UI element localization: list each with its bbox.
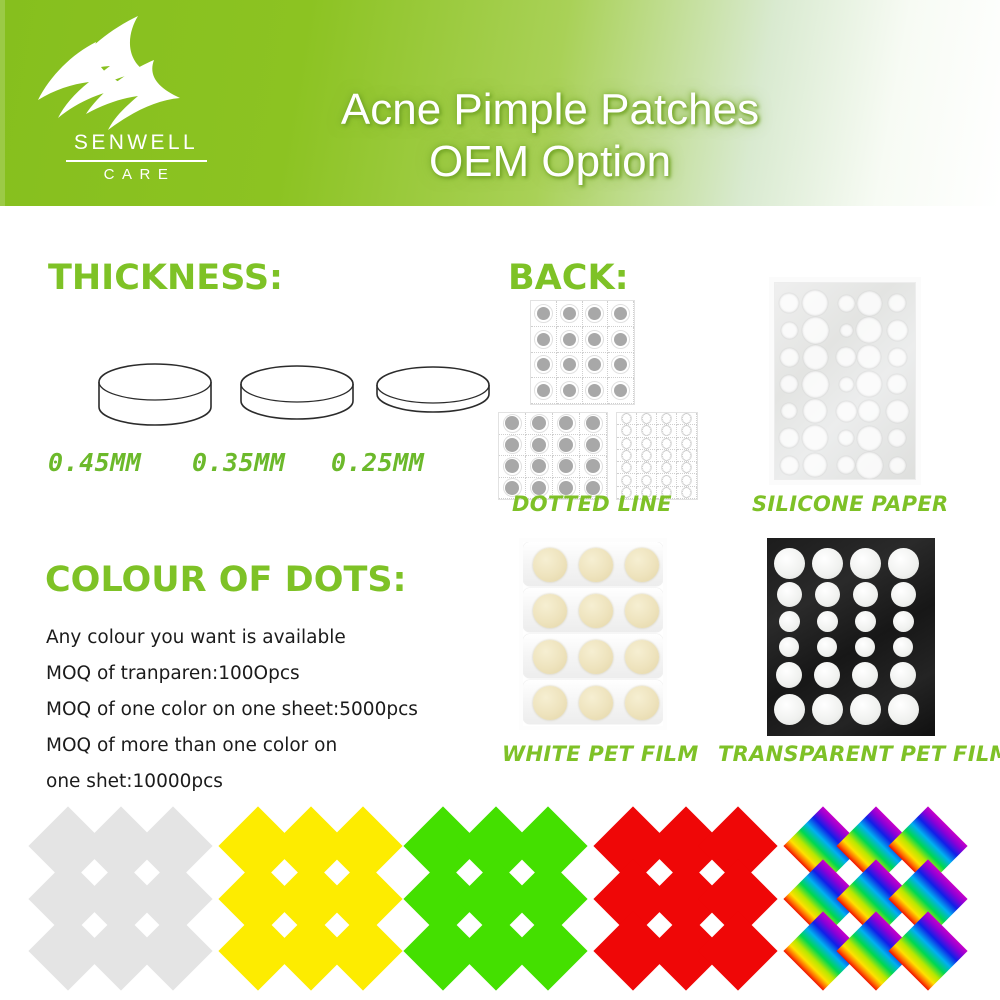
swatch-rainbow xyxy=(795,818,960,978)
transparent-patch-dot xyxy=(817,611,838,632)
patch-cell xyxy=(608,378,634,404)
patch-dot xyxy=(563,384,576,397)
patch-dot xyxy=(622,438,631,449)
silicone-circle xyxy=(802,425,828,451)
patch-dot xyxy=(622,475,631,486)
patch-ring xyxy=(585,304,604,323)
patch-ring xyxy=(681,425,692,436)
patch-cell xyxy=(637,413,657,425)
patch-cell xyxy=(531,353,557,379)
patch-ring xyxy=(534,330,553,349)
header-banner: SENWELL CARE Acne Pimple Patches OEM Opt… xyxy=(0,0,1000,206)
transparent-patch-dot xyxy=(814,662,840,688)
thickness-label-2: 0.35MM xyxy=(192,448,285,477)
patch-ring xyxy=(585,381,604,400)
patch-ring xyxy=(560,330,579,349)
pet-patch-dot xyxy=(579,548,613,582)
silicone-circle xyxy=(839,377,854,392)
patch-ring xyxy=(585,355,604,374)
silicone-circle xyxy=(836,347,856,367)
patch-cell xyxy=(499,456,526,478)
pet-patch-dot xyxy=(533,548,567,582)
silicone-circle xyxy=(889,457,906,474)
patch-cell xyxy=(557,301,583,327)
patch-ring xyxy=(611,381,630,400)
patch-cell xyxy=(608,353,634,379)
silicone-circle xyxy=(838,430,854,446)
transparent-patch-dot xyxy=(853,582,878,607)
patch-ring xyxy=(681,475,692,486)
patch-dot xyxy=(682,475,691,486)
patch-cell xyxy=(657,462,677,474)
silicone-paper-photo xyxy=(775,283,915,479)
swatch-red xyxy=(605,818,770,978)
disc-illustration-035 xyxy=(237,360,357,438)
patch-dot xyxy=(532,416,546,430)
patch-cell xyxy=(617,413,637,425)
patch-cell xyxy=(637,450,657,462)
pet-patch-dot xyxy=(625,548,659,582)
transparent-patch-dot xyxy=(855,637,875,657)
patch-cell xyxy=(617,425,637,437)
patch-ring xyxy=(641,438,652,449)
patch-cell xyxy=(583,327,609,353)
patch-dot xyxy=(563,358,576,371)
patch-ring xyxy=(661,450,672,461)
patch-sheet-right xyxy=(616,412,698,500)
caption-white-pet-film: WHITE PET FILM xyxy=(502,742,699,766)
patch-dot xyxy=(532,459,546,473)
silicone-circle xyxy=(803,453,827,477)
patch-dot xyxy=(682,438,691,449)
patch-cell xyxy=(553,435,580,457)
patch-dot xyxy=(537,384,550,397)
patch-ring xyxy=(621,450,632,461)
patch-ring xyxy=(534,304,553,323)
patch-ring xyxy=(661,475,672,486)
transparent-pet-film-photo xyxy=(767,538,935,736)
patch-cell xyxy=(677,450,697,462)
patch-ring xyxy=(641,462,652,473)
patch-dot xyxy=(614,384,627,397)
silicone-circle xyxy=(857,426,882,451)
patch-dot xyxy=(614,358,627,371)
heading-back: BACK: xyxy=(508,258,629,298)
silicone-circle xyxy=(802,290,828,316)
patch-ring xyxy=(557,435,576,454)
transparent-patch-dot xyxy=(812,548,843,579)
pet-patch-dot xyxy=(533,594,567,628)
silicone-circle xyxy=(858,400,880,422)
patch-dot xyxy=(505,438,519,452)
silicone-circle xyxy=(887,320,908,341)
patch-cell xyxy=(657,425,677,437)
patch-cell xyxy=(583,378,609,404)
patch-dot xyxy=(642,475,651,486)
transparent-patch-dot xyxy=(776,662,802,688)
patch-cell xyxy=(637,438,657,450)
transparent-patch-dot xyxy=(893,637,913,657)
patch-ring xyxy=(661,425,672,436)
patch-dot xyxy=(586,438,600,452)
patch-cell xyxy=(677,413,697,425)
patch-cell xyxy=(583,301,609,327)
silicone-circle xyxy=(803,399,827,423)
silicone-circle xyxy=(802,317,829,344)
silicone-circle xyxy=(780,348,799,367)
silicone-circle xyxy=(857,345,881,369)
patch-dot xyxy=(622,425,631,436)
colour-of-dots-text: Any colour you want is available MOQ of … xyxy=(46,620,476,800)
pet-patch-dot xyxy=(579,594,613,628)
header-left-edge xyxy=(0,0,5,206)
swatch-diamond xyxy=(508,911,587,990)
patch-cell xyxy=(583,353,609,379)
patch-cell xyxy=(617,474,637,486)
patch-cell xyxy=(608,301,634,327)
leaf-flame-logo-icon xyxy=(34,14,204,134)
patch-cell xyxy=(499,413,526,435)
patch-cell xyxy=(677,462,697,474)
transparent-patch-dot xyxy=(850,694,881,725)
patch-cell xyxy=(526,413,553,435)
patch-cell xyxy=(553,413,580,435)
patch-dot xyxy=(559,416,573,430)
patch-cell xyxy=(553,456,580,478)
patch-cell xyxy=(657,413,677,425)
patch-cell xyxy=(580,413,607,435)
swatch-diamond xyxy=(698,911,777,990)
patch-ring xyxy=(681,413,692,424)
patch-dot xyxy=(662,413,671,424)
silicone-circle xyxy=(781,322,798,339)
patch-ring xyxy=(530,414,549,433)
patch-ring xyxy=(621,425,632,436)
patch-ring xyxy=(641,475,652,486)
patch-cell xyxy=(677,474,697,486)
silicone-circle xyxy=(837,456,855,474)
patch-ring xyxy=(534,355,553,374)
patch-dot xyxy=(622,413,631,424)
silicone-circle xyxy=(779,428,799,448)
patch-ring xyxy=(611,304,630,323)
patch-ring xyxy=(641,450,652,461)
title-line-2: OEM Option xyxy=(230,136,870,188)
patch-cell xyxy=(531,378,557,404)
silicone-circle xyxy=(840,324,853,337)
pet-patch-dot xyxy=(579,640,613,674)
colour-line-3: MOQ of one color on one sheet:5000pcs xyxy=(46,692,476,728)
patch-dot xyxy=(537,358,550,371)
pet-patch-dot xyxy=(625,686,659,720)
swatch-diamond xyxy=(323,911,402,990)
patch-cell xyxy=(557,378,583,404)
patch-cell xyxy=(677,438,697,450)
patch-ring xyxy=(661,438,672,449)
patch-ring xyxy=(621,462,632,473)
patch-dot xyxy=(642,413,651,424)
pet-patch-dot xyxy=(579,686,613,720)
patch-ring xyxy=(560,304,579,323)
brand-name: SENWELL xyxy=(66,132,206,153)
page-title: Acne Pimple Patches OEM Option xyxy=(230,84,870,188)
patch-ring xyxy=(621,475,632,486)
transparent-patch-dot xyxy=(852,662,878,688)
brand-divider xyxy=(66,160,207,162)
patch-ring xyxy=(584,414,603,433)
patch-ring xyxy=(681,450,692,461)
patch-cell xyxy=(637,425,657,437)
patch-dot xyxy=(622,462,631,473)
brand-logo: SENWELL CARE xyxy=(34,14,204,196)
transparent-patch-dot xyxy=(855,611,876,632)
silicone-circle xyxy=(886,400,909,423)
transparent-patch-dot xyxy=(888,694,919,725)
pet-patch-dot xyxy=(533,686,567,720)
silicone-circle xyxy=(836,401,857,422)
silicone-circle xyxy=(781,403,797,419)
silicone-circle xyxy=(838,295,855,312)
patch-dot xyxy=(662,425,671,436)
patch-dot xyxy=(559,438,573,452)
transparent-patch-dot xyxy=(817,637,837,657)
silicone-circle xyxy=(857,291,882,316)
patch-dot xyxy=(537,333,550,346)
silicone-circle xyxy=(856,452,883,479)
swatch-transparent xyxy=(40,818,205,978)
patch-cell xyxy=(608,327,634,353)
pet-patch-dot xyxy=(625,640,659,674)
patch-cell xyxy=(617,438,637,450)
patch-ring xyxy=(621,438,632,449)
thickness-label-3: 0.25MM xyxy=(331,448,424,477)
patch-dot xyxy=(642,450,651,461)
patch-ring xyxy=(503,435,522,454)
patch-dot xyxy=(662,462,671,473)
patch-ring xyxy=(560,381,579,400)
transparent-patch-dot xyxy=(777,582,802,607)
thickness-label-1: 0.45MM xyxy=(48,448,141,477)
patch-cell xyxy=(526,456,553,478)
patch-ring xyxy=(560,355,579,374)
patch-cell xyxy=(499,435,526,457)
caption-dotted-line: DOTTED LINE xyxy=(512,492,672,516)
transparent-patch-dot xyxy=(893,611,914,632)
patch-cell xyxy=(617,462,637,474)
patch-dot xyxy=(505,416,519,430)
patch-ring xyxy=(611,355,630,374)
transparent-patch-dot xyxy=(891,582,916,607)
patch-dot xyxy=(682,462,691,473)
patch-ring xyxy=(611,330,630,349)
patch-dot xyxy=(588,358,601,371)
patch-ring xyxy=(534,381,553,400)
transparent-patch-dot xyxy=(850,548,881,579)
silicone-circle xyxy=(888,294,906,312)
transparent-patch-dot xyxy=(774,694,805,725)
patch-sheet-left xyxy=(498,412,608,500)
patch-cell xyxy=(677,425,697,437)
patch-dot xyxy=(642,438,651,449)
patch-cell xyxy=(677,487,697,499)
title-line-1: Acne Pimple Patches xyxy=(230,84,870,136)
disc-illustration-025 xyxy=(373,360,493,438)
patch-dot xyxy=(532,438,546,452)
patch-dot xyxy=(505,459,519,473)
caption-transparent-pet-film: TRANSPARENT PET FILM xyxy=(718,742,1000,766)
patch-ring xyxy=(585,330,604,349)
silicone-circle xyxy=(780,375,798,393)
patch-cell xyxy=(580,435,607,457)
colour-line-2: MOQ of tranparen:100Opcs xyxy=(46,656,476,692)
patch-dot xyxy=(682,487,691,498)
patch-ring xyxy=(503,457,522,476)
silicone-circle xyxy=(888,348,907,367)
patch-cell xyxy=(657,438,677,450)
silicone-circle xyxy=(779,293,799,313)
patch-dot xyxy=(586,459,600,473)
transparent-patch-dot xyxy=(890,662,916,688)
silicone-circle xyxy=(803,345,828,370)
silicone-circle xyxy=(856,371,882,397)
patch-sheet-top xyxy=(530,300,635,405)
patch-dot xyxy=(622,450,631,461)
transparent-patch-dot xyxy=(815,582,840,607)
patch-cell xyxy=(637,474,657,486)
patch-cell xyxy=(657,450,677,462)
patch-dot xyxy=(588,333,601,346)
infographic-page: SENWELL CARE Acne Pimple Patches OEM Opt… xyxy=(0,0,1000,1000)
patch-cell xyxy=(637,462,657,474)
patch-dot xyxy=(537,307,550,320)
swatch-yellow xyxy=(230,818,395,978)
patch-ring xyxy=(681,438,692,449)
patch-dot xyxy=(586,416,600,430)
patch-cell xyxy=(580,456,607,478)
patch-dot xyxy=(588,384,601,397)
patch-cell xyxy=(657,474,677,486)
patch-ring xyxy=(681,462,692,473)
heading-colour-of-dots: COLOUR OF DOTS: xyxy=(45,560,407,600)
patch-ring xyxy=(530,457,549,476)
patch-dot xyxy=(642,462,651,473)
patch-dot xyxy=(563,333,576,346)
patch-dot xyxy=(682,425,691,436)
transparent-patch-dot xyxy=(779,637,799,657)
heading-thickness: THICKNESS: xyxy=(48,258,283,298)
patch-cell xyxy=(557,327,583,353)
silicone-circle xyxy=(888,429,906,447)
disc-illustration-045 xyxy=(95,360,215,438)
patch-dot xyxy=(662,438,671,449)
patch-dot xyxy=(682,413,691,424)
patch-ring xyxy=(661,413,672,424)
transparent-patch-dot xyxy=(812,694,843,725)
swatch-diamond xyxy=(133,911,212,990)
patch-dot xyxy=(642,425,651,436)
brand-sub: CARE xyxy=(66,167,206,182)
patch-cell xyxy=(557,353,583,379)
patch-ring xyxy=(557,457,576,476)
patch-dot xyxy=(614,307,627,320)
transparent-patch-dot xyxy=(774,548,805,579)
patch-dot xyxy=(662,450,671,461)
caption-silicone-paper: SILICONE PAPER xyxy=(752,492,948,516)
swatch-green xyxy=(415,818,580,978)
silicone-circle xyxy=(802,371,829,398)
patch-ring xyxy=(503,414,522,433)
patch-ring xyxy=(557,414,576,433)
silicone-circle xyxy=(780,456,799,475)
patch-ring xyxy=(641,413,652,424)
patch-ring xyxy=(584,435,603,454)
patch-ring xyxy=(641,425,652,436)
dotted-line-illustration xyxy=(498,300,698,485)
transparent-patch-dot xyxy=(779,611,800,632)
silicone-circle xyxy=(887,374,907,394)
patch-ring xyxy=(584,457,603,476)
patch-dot xyxy=(563,307,576,320)
patch-ring xyxy=(681,487,692,498)
swatch-diamond xyxy=(888,911,967,990)
patch-cell xyxy=(531,301,557,327)
patch-cell xyxy=(531,327,557,353)
patch-ring xyxy=(661,462,672,473)
patch-dot xyxy=(662,475,671,486)
colour-line-1: Any colour you want is available xyxy=(46,620,476,656)
silicone-circle xyxy=(856,317,882,343)
transparent-patch-dot xyxy=(888,548,919,579)
patch-dot xyxy=(559,459,573,473)
patch-cell xyxy=(617,450,637,462)
colour-line-4: MOQ of more than one color on xyxy=(46,728,476,764)
pet-patch-dot xyxy=(625,594,659,628)
white-pet-film-photo xyxy=(523,542,663,726)
patch-dot xyxy=(614,333,627,346)
patch-ring xyxy=(621,413,632,424)
patch-ring xyxy=(530,435,549,454)
patch-dot xyxy=(588,307,601,320)
colour-line-5: one shet:10000pcs xyxy=(46,764,476,800)
patch-dot xyxy=(682,450,691,461)
pet-patch-dot xyxy=(533,640,567,674)
patch-cell xyxy=(526,435,553,457)
